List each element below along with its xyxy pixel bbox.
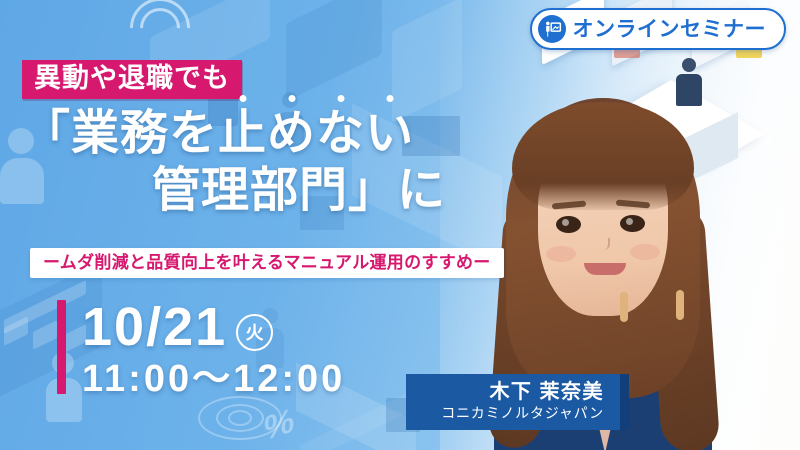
online-seminar-badge-label: オンラインセミナー: [573, 19, 767, 40]
headline-emph-char-2: め: [267, 106, 316, 163]
schedule-date: 10/21: [82, 300, 227, 355]
deco-person-body-5: [500, 294, 530, 338]
deco-percent-glyph: %: [264, 401, 292, 449]
headline-line-1-prefix: 「業務を: [22, 107, 218, 160]
headline: 「業務を止めない 管理部門」に: [22, 106, 446, 219]
schedule-text-column: 10/21 火 11:00〜12:00: [82, 300, 345, 401]
kicker-banner: 異動や退職でも: [22, 60, 242, 99]
deco-ring-3: [228, 410, 252, 426]
deco-scene-person-head: [682, 58, 696, 72]
headline-line-1: 「業務を止めない: [22, 106, 446, 163]
deco-scene-person-body: [676, 74, 702, 106]
schedule-day-of-week: 火: [236, 314, 273, 351]
online-seminar-badge: オンラインセミナー: [530, 8, 787, 50]
schedule-time: 11:00〜12:00: [82, 359, 345, 401]
subtitle-bar: ームダ削減と品質向上を叶えるマニュアル運用のすすめー: [30, 248, 504, 278]
schedule-accent-bar: [57, 300, 66, 394]
headline-line-2: 管理部門」に: [22, 163, 446, 220]
headline-emph-char-3: な: [316, 106, 365, 163]
speaker-name: 木下 茉奈美: [428, 380, 604, 404]
subtitle-text: ームダ削減と品質向上を叶えるマニュアル運用のすすめー: [43, 252, 491, 273]
headline-emph-char-4: い: [365, 106, 414, 163]
deco-person-head-5: [506, 272, 524, 290]
speaker-nameplate: 木下 茉奈美 コニカミノルタジャパン: [406, 374, 629, 430]
speaker-organization: コニカミノルタジャパン: [428, 404, 604, 422]
seminar-banner: %: [0, 0, 800, 450]
schedule-block: 10/21 火 11:00〜12:00: [57, 300, 345, 401]
deco-panel-2: [286, 0, 382, 101]
schedule-date-row: 10/21 火: [82, 300, 345, 355]
headline-emph-char-1: 止: [218, 106, 267, 163]
presenter-board-icon: [538, 15, 566, 43]
